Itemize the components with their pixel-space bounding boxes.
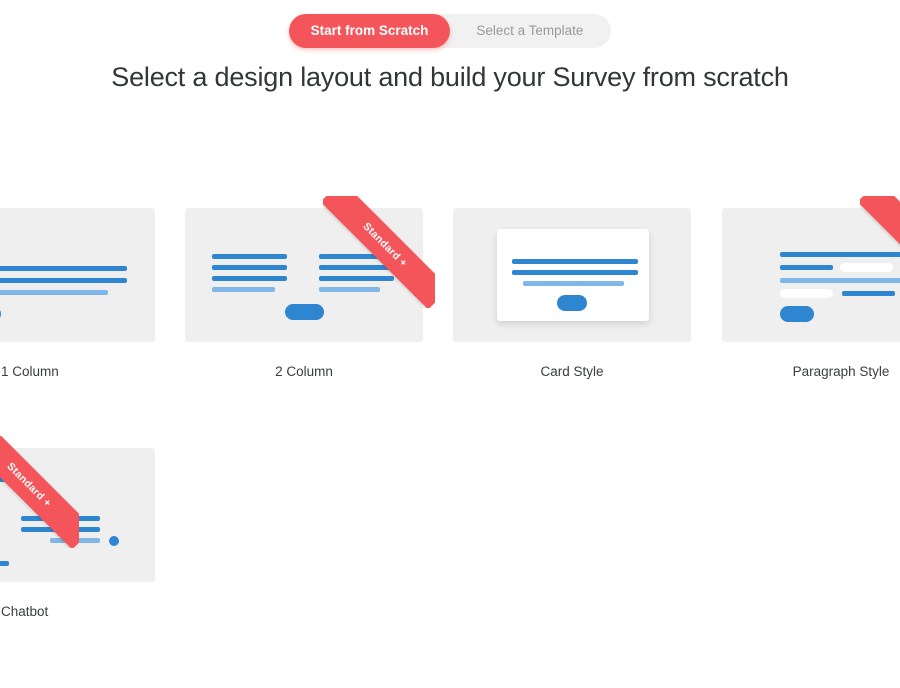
layout-thumbnail-one-column[interactable] [0, 208, 155, 342]
layout-card-card-style[interactable]: Card Style [453, 208, 691, 379]
layout-label-card-style: Card Style [453, 364, 691, 379]
preview-line [212, 265, 287, 270]
preview-line [780, 265, 833, 270]
layout-grid-row: Standard + Chatbot [0, 448, 900, 628]
mode-toggle-container: Start from Scratch Select a Template [0, 14, 900, 48]
layout-card-paragraph-style[interactable]: Standard + Paragraph Style [722, 208, 900, 379]
layout-thumbnail-card-style[interactable] [453, 208, 691, 342]
preview-line [780, 252, 900, 257]
preview-line [512, 259, 638, 264]
layout-grid-row: 1 Column [0, 208, 900, 388]
tab-start-from-scratch[interactable]: Start from Scratch [289, 14, 451, 48]
layout-thumbnail-two-column[interactable]: Standard + [185, 208, 423, 342]
preview-line [212, 254, 287, 259]
layout-label-paragraph-style: Paragraph Style [722, 364, 900, 379]
preview-line [0, 290, 108, 295]
layout-card-chatbot[interactable]: Standard + Chatbot [0, 448, 155, 619]
preview-line [21, 527, 100, 532]
preview-submit-button [780, 306, 814, 322]
preview-input-field [780, 289, 833, 298]
layout-grid: 1 Column [0, 208, 900, 688]
preview-submit-button [557, 295, 587, 311]
preview-line [523, 281, 624, 286]
preview-line [21, 516, 100, 521]
preview-line [319, 254, 394, 259]
tab-select-a-template[interactable]: Select a Template [450, 14, 611, 48]
preview-line [842, 291, 895, 296]
layout-thumbnail-paragraph-style[interactable]: Standard + [722, 208, 900, 342]
preview-line [319, 276, 394, 281]
layout-label-chatbot: Chatbot [0, 604, 155, 619]
preview-line [512, 270, 638, 275]
thumbnail-canvas [0, 448, 155, 582]
preview-line [0, 266, 127, 271]
preview-line [212, 276, 287, 281]
thumbnail-canvas [185, 208, 423, 342]
thumbnail-canvas [0, 208, 155, 342]
preview-line [780, 278, 900, 283]
layout-label-two-column: 2 Column [185, 364, 423, 379]
design-layout-picker-page: Start from Scratch Select a Template Sel… [0, 0, 900, 675]
preview-line [0, 561, 9, 566]
layout-card-one-column[interactable]: 1 Column [0, 208, 155, 379]
thumbnail-canvas [453, 208, 691, 342]
layout-thumbnail-chatbot[interactable]: Standard + [0, 448, 155, 582]
preview-submit-button [0, 306, 1, 322]
preview-line [0, 477, 9, 482]
page-title: Select a design layout and build your Su… [0, 62, 900, 93]
preview-input-field [840, 263, 893, 272]
layout-label-one-column: 1 Column [0, 364, 155, 379]
preview-line [319, 287, 380, 292]
thumbnail-canvas [722, 208, 900, 342]
layout-card-two-column[interactable]: Standard + 2 Column [185, 208, 423, 379]
preview-line [212, 287, 275, 292]
preview-line [319, 265, 394, 270]
preview-line [0, 278, 127, 283]
preview-line [50, 538, 100, 543]
preview-submit-button [285, 304, 324, 320]
mode-toggle[interactable]: Start from Scratch Select a Template [289, 14, 612, 48]
preview-avatar-dot [109, 536, 119, 546]
